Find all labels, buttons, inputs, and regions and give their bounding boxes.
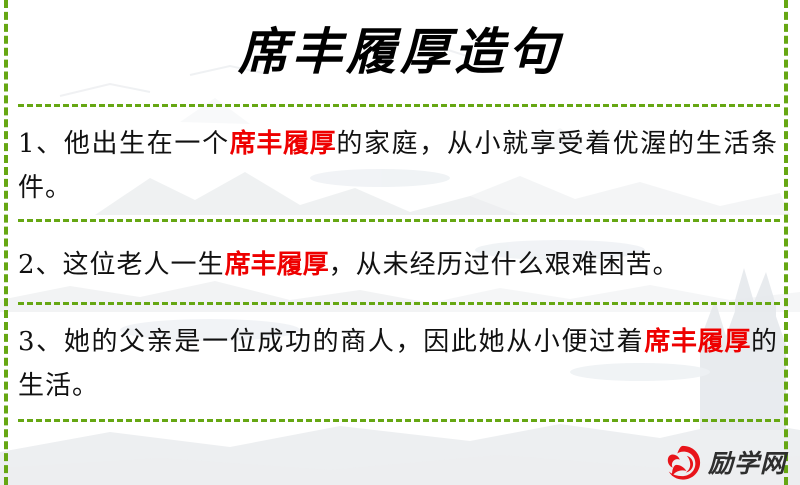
sentence-index: 3、 [18, 327, 64, 357]
sentence-row: 1、他出生在一个席丰履厚的家庭，从小就享受着优渥的生活条件。 [18, 122, 778, 210]
sentence-row: 2、这位老人一生席丰履厚，从未经历过什么艰难困苦。 [18, 243, 778, 287]
sentence-text-before: 他出生在一个 [64, 129, 230, 159]
divider-2-3 [18, 302, 780, 305]
keyword-highlight: 席丰履厚 [230, 129, 337, 159]
sentence-row: 3、她的父亲是一位成功的商人，因此她从小便过着席丰履厚的生活。 [18, 320, 778, 408]
flame-swoosh-icon [664, 444, 702, 482]
page-title: 席丰履厚造句 [0, 12, 800, 84]
sentence-text-after: ，从未经历过什么艰难困苦。 [329, 250, 680, 280]
sentence-text-before: 她的父亲是一位成功的商人，因此她从小便过着 [64, 327, 645, 357]
site-logo-text: 励学网 [708, 451, 786, 476]
sentence-index: 1、 [18, 129, 64, 159]
sentence-index: 2、 [18, 250, 63, 280]
divider-1-2 [18, 219, 780, 222]
sentence-page: 席丰履厚造句 1、他出生在一个席丰履厚的家庭，从小就享受着优渥的生活条件。 2、… [0, 0, 800, 485]
site-logo[interactable]: 励学网 [664, 444, 786, 482]
divider-bottom [18, 419, 780, 422]
keyword-highlight: 席丰履厚 [225, 250, 329, 280]
sentence-text-before: 这位老人一生 [63, 250, 225, 280]
divider-top [18, 104, 780, 107]
keyword-highlight: 席丰履厚 [644, 327, 751, 357]
